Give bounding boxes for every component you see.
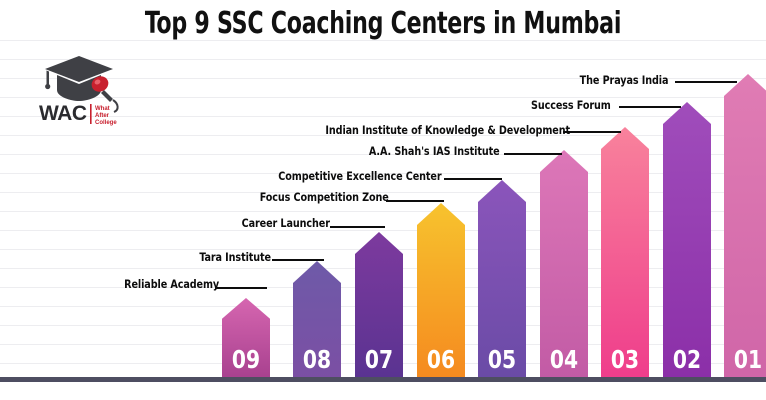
bar-rank-label: 07 (357, 347, 400, 372)
bar-04[interactable]: 04 (540, 150, 588, 378)
bar-rank-label: 09 (224, 347, 267, 372)
bar-05[interactable]: 05 (478, 180, 526, 378)
chart-baseline (0, 377, 766, 382)
bar-rank-label: 01 (726, 347, 766, 372)
bar-08[interactable]: 08 (293, 261, 341, 378)
bar-rank-label: 02 (665, 347, 708, 372)
bar-01[interactable]: 01 (724, 74, 766, 378)
bar-rank-label: 08 (295, 347, 338, 372)
bar-name-label-08: Tara Institute (199, 252, 271, 264)
bar-shape (663, 102, 711, 378)
leader-line-07 (330, 226, 385, 228)
bar-rank-label: 03 (603, 347, 646, 372)
bar-name-label-07: Career Launcher (242, 218, 330, 230)
bar-name-label-05: Competitive Excellence Center (278, 171, 441, 183)
leader-line-09 (215, 287, 267, 289)
leader-line-08 (272, 259, 324, 261)
bar-rank-label: 06 (419, 347, 462, 372)
bar-name-label-02: Success Forum (531, 100, 611, 112)
leader-line-01 (675, 81, 737, 83)
infographic-canvas: Top 9 SSC Coaching Centers in Mumbai WAC… (0, 0, 766, 400)
bar-name-label-04: A.A. Shah's IAS Institute (369, 146, 500, 158)
leader-line-05 (444, 178, 502, 180)
bar-shape (601, 127, 649, 378)
bar-02[interactable]: 02 (663, 102, 711, 378)
bar-rank-label: 05 (480, 347, 523, 372)
bar-name-label-09: Reliable Academy (124, 279, 219, 291)
bar-09[interactable]: 09 (222, 298, 270, 378)
bar-name-label-03: Indian Institute of Knowledge & Developm… (325, 125, 570, 137)
bar-name-label-01: The Prayas India (580, 75, 669, 87)
bar-name-label-06: Focus Competition Zone (260, 192, 389, 204)
bar-06[interactable]: 06 (417, 203, 465, 378)
bar-07[interactable]: 07 (355, 232, 403, 378)
bar-chart-plot: 09Reliable Academy08Tara Institute07Care… (0, 0, 766, 400)
bar-03[interactable]: 03 (601, 127, 649, 378)
leader-line-03 (563, 131, 621, 133)
bar-shape (724, 74, 766, 378)
bar-rank-label: 04 (542, 347, 585, 372)
bar-shape (540, 150, 588, 378)
leader-line-06 (386, 200, 444, 202)
leader-line-02 (619, 106, 681, 108)
leader-line-04 (504, 153, 562, 155)
